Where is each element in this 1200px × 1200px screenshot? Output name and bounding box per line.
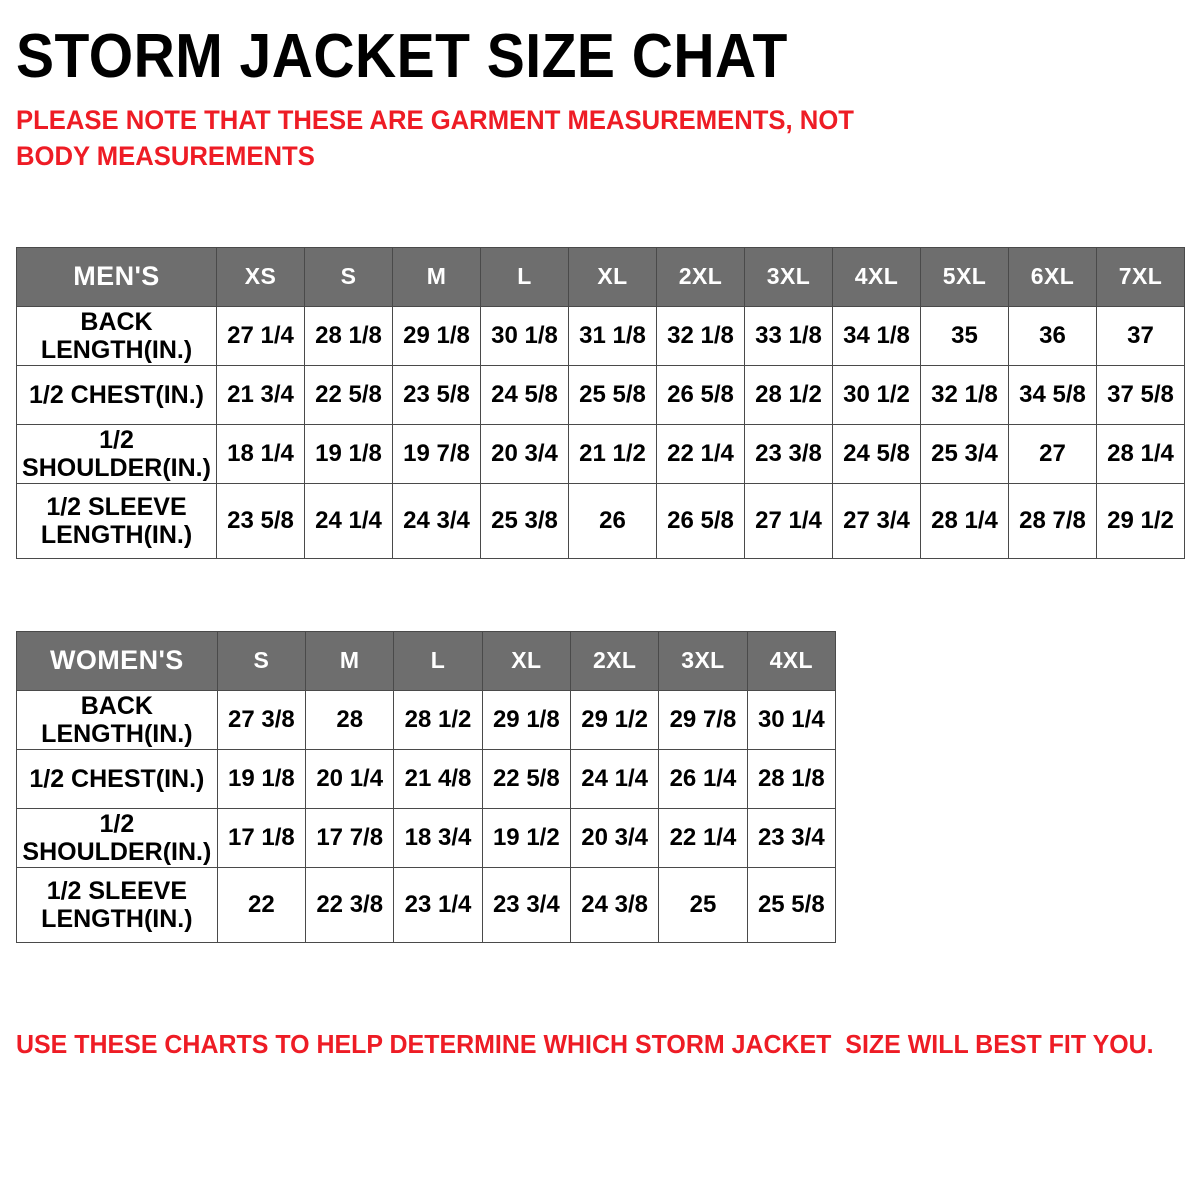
womens-half-chest-2xl: 24 1/4 <box>570 749 658 808</box>
mens-half-sleeve-5xl: 28 1/4 <box>921 483 1009 558</box>
womens-half-sleeve-4xl: 25 5/8 <box>747 867 835 942</box>
womens-size-header-s: S <box>217 631 305 690</box>
womens-back-length-2xl: 29 1/2 <box>570 690 658 749</box>
mens-size-header-6xl: 6XL <box>1009 247 1097 306</box>
page-title: STORM JACKET SIZE CHAT <box>16 0 1091 88</box>
mens-table-body: BACK LENGTH(IN.) 27 1/4 28 1/8 29 1/8 30… <box>17 306 1185 558</box>
mens-half-chest-l: 24 5/8 <box>481 365 569 424</box>
mens-size-header-s: S <box>305 247 393 306</box>
mens-table-header: MEN'S XS S M L XL 2XL 3XL 4XL 5XL 6XL 7X… <box>17 247 1185 306</box>
mens-half-sleeve-7xl: 29 1/2 <box>1097 483 1185 558</box>
womens-half-sleeve-xl: 23 3/4 <box>482 867 570 942</box>
mens-half-shoulder-xs: 18 1/4 <box>217 424 305 483</box>
mens-half-sleeve-xl: 26 <box>569 483 657 558</box>
mens-size-header-3xl: 3XL <box>745 247 833 306</box>
mens-half-sleeve-xs: 23 5/8 <box>217 483 305 558</box>
womens-half-chest-m: 20 1/4 <box>306 749 394 808</box>
mens-size-table-wrapper: MEN'S XS S M L XL 2XL 3XL 4XL 5XL 6XL 7X… <box>16 247 1184 559</box>
mens-half-sleeve-m: 24 3/4 <box>393 483 481 558</box>
womens-half-shoulder-xl: 19 1/2 <box>482 808 570 867</box>
table-row: 1/2 SHOULDER(IN.) 18 1/4 19 1/8 19 7/8 2… <box>17 424 1185 483</box>
womens-header-row: WOMEN'S S M L XL 2XL 3XL 4XL <box>17 631 836 690</box>
mens-size-header-xs: XS <box>217 247 305 306</box>
mens-half-chest-m: 23 5/8 <box>393 365 481 424</box>
mens-size-table: MEN'S XS S M L XL 2XL 3XL 4XL 5XL 6XL 7X… <box>16 247 1185 559</box>
womens-half-chest-l: 21 4/8 <box>394 749 482 808</box>
mens-half-chest-5xl: 32 1/8 <box>921 365 1009 424</box>
mens-half-shoulder-s: 19 1/8 <box>305 424 393 483</box>
mens-half-chest-3xl: 28 1/2 <box>745 365 833 424</box>
mens-half-chest-7xl: 37 5/8 <box>1097 365 1185 424</box>
table-row: BACK LENGTH(IN.) 27 3/8 28 28 1/2 29 1/8… <box>17 690 836 749</box>
mens-half-shoulder-xl: 21 1/2 <box>569 424 657 483</box>
womens-half-chest-4xl: 28 1/8 <box>747 749 835 808</box>
mens-half-sleeve-3xl: 27 1/4 <box>745 483 833 558</box>
mens-half-shoulder-l: 20 3/4 <box>481 424 569 483</box>
mens-back-length-7xl: 37 <box>1097 306 1185 365</box>
mens-half-sleeve-6xl: 28 7/8 <box>1009 483 1097 558</box>
mens-size-header-m: M <box>393 247 481 306</box>
table-row: 1/2 SLEEVE LENGTH(IN.) 22 22 3/8 23 1/4 … <box>17 867 836 942</box>
size-chart-page: STORM JACKET SIZE CHAT PLEASE NOTE THAT … <box>0 0 1200 1200</box>
mens-header-row: MEN'S XS S M L XL 2XL 3XL 4XL 5XL 6XL 7X… <box>17 247 1185 306</box>
womens-half-chest-s: 19 1/8 <box>217 749 305 808</box>
mens-half-shoulder-6xl: 27 <box>1009 424 1097 483</box>
womens-size-header-xl: XL <box>482 631 570 690</box>
mens-size-header-l: L <box>481 247 569 306</box>
mens-size-header-xl: XL <box>569 247 657 306</box>
mens-half-chest-xl: 25 5/8 <box>569 365 657 424</box>
mens-half-chest-2xl: 26 5/8 <box>657 365 745 424</box>
mens-category-header: MEN'S <box>17 247 217 306</box>
womens-half-shoulder-3xl: 22 1/4 <box>659 808 747 867</box>
womens-table-header: WOMEN'S S M L XL 2XL 3XL 4XL <box>17 631 836 690</box>
womens-back-length-s: 27 3/8 <box>217 690 305 749</box>
mens-back-length-xs: 27 1/4 <box>217 306 305 365</box>
mens-back-length-6xl: 36 <box>1009 306 1097 365</box>
mens-half-chest-6xl: 34 5/8 <box>1009 365 1097 424</box>
footer-note: USE THESE CHARTS TO HELP DETERMINE WHICH… <box>16 943 1137 1060</box>
table-row: 1/2 SHOULDER(IN.) 17 1/8 17 7/8 18 3/4 1… <box>17 808 836 867</box>
mens-back-length-m: 29 1/8 <box>393 306 481 365</box>
mens-half-sleeve-l: 25 3/8 <box>481 483 569 558</box>
womens-back-length-4xl: 30 1/4 <box>747 690 835 749</box>
mens-half-shoulder-7xl: 28 1/4 <box>1097 424 1185 483</box>
womens-back-length-3xl: 29 7/8 <box>659 690 747 749</box>
mens-half-shoulder-5xl: 25 3/4 <box>921 424 1009 483</box>
table-row: BACK LENGTH(IN.) 27 1/4 28 1/8 29 1/8 30… <box>17 306 1185 365</box>
womens-size-table-wrapper: WOMEN'S S M L XL 2XL 3XL 4XL BACK LENGTH… <box>16 631 1184 943</box>
womens-size-table: WOMEN'S S M L XL 2XL 3XL 4XL BACK LENGTH… <box>16 631 836 943</box>
mens-row-label-back-length: BACK LENGTH(IN.) <box>17 306 217 365</box>
mens-half-chest-s: 22 5/8 <box>305 365 393 424</box>
mens-half-chest-xs: 21 3/4 <box>217 365 305 424</box>
table-row: 1/2 CHEST(IN.) 19 1/8 20 1/4 21 4/8 22 5… <box>17 749 836 808</box>
mens-back-length-l: 30 1/8 <box>481 306 569 365</box>
womens-half-sleeve-l: 23 1/4 <box>394 867 482 942</box>
womens-size-header-4xl: 4XL <box>747 631 835 690</box>
womens-size-header-3xl: 3XL <box>659 631 747 690</box>
womens-size-header-m: M <box>306 631 394 690</box>
womens-half-chest-3xl: 26 1/4 <box>659 749 747 808</box>
womens-half-sleeve-s: 22 <box>217 867 305 942</box>
womens-category-header: WOMEN'S <box>17 631 218 690</box>
mens-size-header-5xl: 5XL <box>921 247 1009 306</box>
mens-size-header-7xl: 7XL <box>1097 247 1185 306</box>
mens-half-sleeve-2xl: 26 5/8 <box>657 483 745 558</box>
womens-back-length-l: 28 1/2 <box>394 690 482 749</box>
womens-row-label-half-chest: 1/2 CHEST(IN.) <box>17 749 218 808</box>
mens-back-length-3xl: 33 1/8 <box>745 306 833 365</box>
mens-back-length-s: 28 1/8 <box>305 306 393 365</box>
mens-row-label-half-shoulder: 1/2 SHOULDER(IN.) <box>17 424 217 483</box>
mens-back-length-2xl: 32 1/8 <box>657 306 745 365</box>
mens-half-shoulder-3xl: 23 3/8 <box>745 424 833 483</box>
mens-half-shoulder-4xl: 24 5/8 <box>833 424 921 483</box>
mens-back-length-5xl: 35 <box>921 306 1009 365</box>
table-row: 1/2 CHEST(IN.) 21 3/4 22 5/8 23 5/8 24 5… <box>17 365 1185 424</box>
mens-row-label-half-chest: 1/2 CHEST(IN.) <box>17 365 217 424</box>
womens-row-label-half-shoulder: 1/2 SHOULDER(IN.) <box>17 808 218 867</box>
mens-size-header-4xl: 4XL <box>833 247 921 306</box>
mens-half-sleeve-4xl: 27 3/4 <box>833 483 921 558</box>
womens-size-header-2xl: 2XL <box>570 631 658 690</box>
womens-half-shoulder-l: 18 3/4 <box>394 808 482 867</box>
womens-half-shoulder-4xl: 23 3/4 <box>747 808 835 867</box>
mens-size-header-2xl: 2XL <box>657 247 745 306</box>
womens-row-label-half-sleeve-length: 1/2 SLEEVE LENGTH(IN.) <box>17 867 218 942</box>
womens-table-body: BACK LENGTH(IN.) 27 3/8 28 28 1/2 29 1/8… <box>17 690 836 942</box>
mens-back-length-xl: 31 1/8 <box>569 306 657 365</box>
womens-half-shoulder-m: 17 7/8 <box>306 808 394 867</box>
garment-measurement-note: PLEASE NOTE THAT THESE ARE GARMENT MEASU… <box>16 88 928 175</box>
womens-half-sleeve-m: 22 3/8 <box>306 867 394 942</box>
womens-half-shoulder-s: 17 1/8 <box>217 808 305 867</box>
mens-half-sleeve-s: 24 1/4 <box>305 483 393 558</box>
table-gap-spacer <box>16 559 1184 631</box>
womens-size-header-l: L <box>394 631 482 690</box>
womens-back-length-m: 28 <box>306 690 394 749</box>
womens-back-length-xl: 29 1/8 <box>482 690 570 749</box>
mens-half-shoulder-m: 19 7/8 <box>393 424 481 483</box>
womens-row-label-back-length: BACK LENGTH(IN.) <box>17 690 218 749</box>
womens-half-chest-xl: 22 5/8 <box>482 749 570 808</box>
womens-half-sleeve-3xl: 25 <box>659 867 747 942</box>
mens-half-chest-4xl: 30 1/2 <box>833 365 921 424</box>
mens-row-label-half-sleeve-length: 1/2 SLEEVE LENGTH(IN.) <box>17 483 217 558</box>
mens-half-shoulder-2xl: 22 1/4 <box>657 424 745 483</box>
womens-half-shoulder-2xl: 20 3/4 <box>570 808 658 867</box>
table-row: 1/2 SLEEVE LENGTH(IN.) 23 5/8 24 1/4 24 … <box>17 483 1185 558</box>
womens-half-sleeve-2xl: 24 3/8 <box>570 867 658 942</box>
title-table-spacer <box>16 175 1184 247</box>
mens-back-length-4xl: 34 1/8 <box>833 306 921 365</box>
